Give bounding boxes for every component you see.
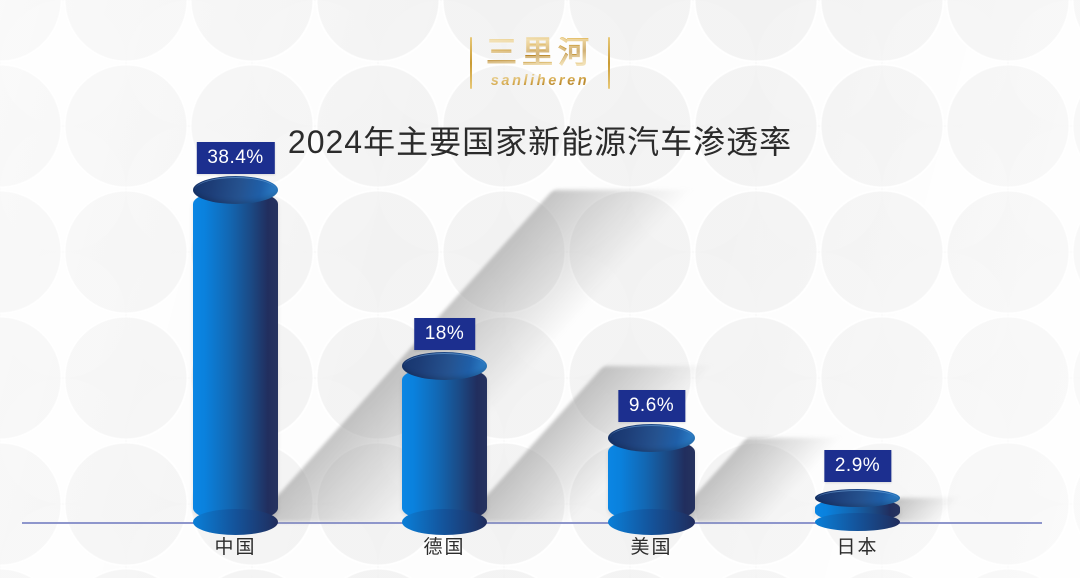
bar-group-germany: 18% 德国 — [402, 0, 487, 578]
bar-group-usa: 9.6% 美国 — [608, 0, 695, 578]
bar-value-badge: 9.6% — [618, 390, 685, 422]
plot-area: 38.4% 中国 18% 德国 9.6% 美国 — [0, 0, 1080, 578]
bar-value-badge: 2.9% — [824, 450, 891, 482]
cylinder-top-rim — [817, 490, 898, 507]
bar-cylinder[interactable] — [815, 498, 900, 522]
bar-value-badge: 18% — [414, 318, 476, 350]
category-label-china: 中国 — [214, 532, 256, 559]
bar-group-japan: 2.9% 日本 — [815, 0, 900, 578]
bar-cylinder[interactable] — [402, 366, 487, 522]
cylinder-top-rim — [404, 353, 485, 379]
bar-cylinder[interactable] — [608, 438, 695, 522]
category-label-usa: 美国 — [630, 532, 672, 559]
category-label-japan: 日本 — [836, 532, 878, 559]
cylinder-top-rim — [610, 425, 693, 451]
category-label-germany: 德国 — [423, 532, 465, 559]
cylinder-bottom-ellipse — [815, 513, 900, 531]
bar-cylinder[interactable] — [193, 190, 278, 522]
cylinder-top-rim — [195, 177, 276, 203]
bar-group-china: 38.4% 中国 — [193, 0, 278, 578]
chart-canvas: 三里河 sanliheren 2024年主要国家新能源汽车渗透率 38.4% 中… — [0, 0, 1080, 578]
bar-value-badge: 38.4% — [196, 142, 274, 174]
